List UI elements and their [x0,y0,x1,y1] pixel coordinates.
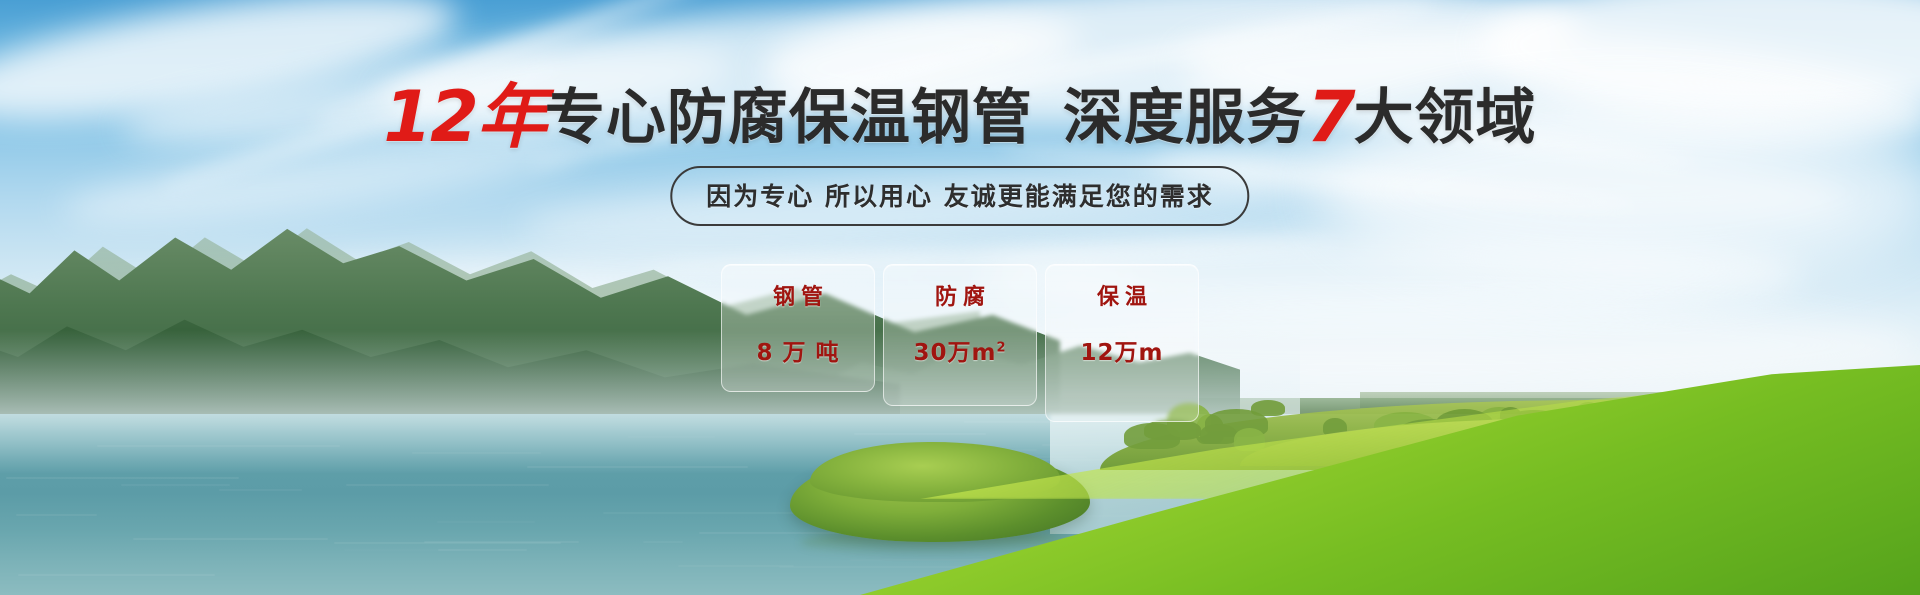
stat-card-insulation: 保温 12万m [1045,264,1199,422]
headline-years-number: 12 [383,76,476,158]
stat-card-value: 12万m [1046,333,1198,367]
stat-card-group: 钢管 8 万 吨 防腐 30万m2 保温 12万m [721,264,1199,422]
headline-phrase-3: 大领域 [1354,83,1537,153]
subtitle-pill: 因为专心 所以用心 友诚更能满足您的需求 [670,166,1249,226]
stat-card-title: 钢管 [722,279,874,311]
stat-card-steel-pipe: 钢管 8 万 吨 [721,264,875,392]
water-ripple [437,521,536,523]
water-ripple [18,574,214,576]
stat-card-title: 保温 [1046,279,1198,311]
water-ripple [344,549,461,551]
headline-years-unit: 年 [477,76,545,158]
stat-card-value: 30万m2 [884,333,1036,367]
headline-phrase-2: 深度服务 [1063,83,1307,153]
water-ripple [850,559,1006,561]
water-ripple [424,541,579,543]
water-ripple [6,477,239,479]
stat-card-value-superscript: 2 [996,340,1006,355]
water-ripple [219,489,301,491]
stat-card-anticorrosion: 防腐 30万m2 [883,264,1037,406]
hero-banner: 12年专心防腐保温钢管深度服务7大领域 因为专心 所以用心 友诚更能满足您的需求… [0,0,1920,595]
stat-card-value: 8 万 吨 [722,333,874,367]
banner-headline: 12年专心防腐保温钢管深度服务7大领域 [0,84,1920,151]
water-ripple [779,566,982,568]
water-ripple [16,514,97,516]
water-ripple [121,484,230,486]
headline-phrase-1: 专心防腐保温钢管 [545,83,1033,153]
water-ripple [678,565,794,567]
headline-fields-number: 7 [1307,76,1354,158]
reed-tuft [1144,419,1201,440]
water-ripple [133,538,327,540]
water-ripple [643,541,683,543]
stat-card-title: 防腐 [884,279,1036,311]
reed-tuft [1200,424,1238,443]
water-ripple [346,484,549,486]
water-ripple [603,512,817,514]
